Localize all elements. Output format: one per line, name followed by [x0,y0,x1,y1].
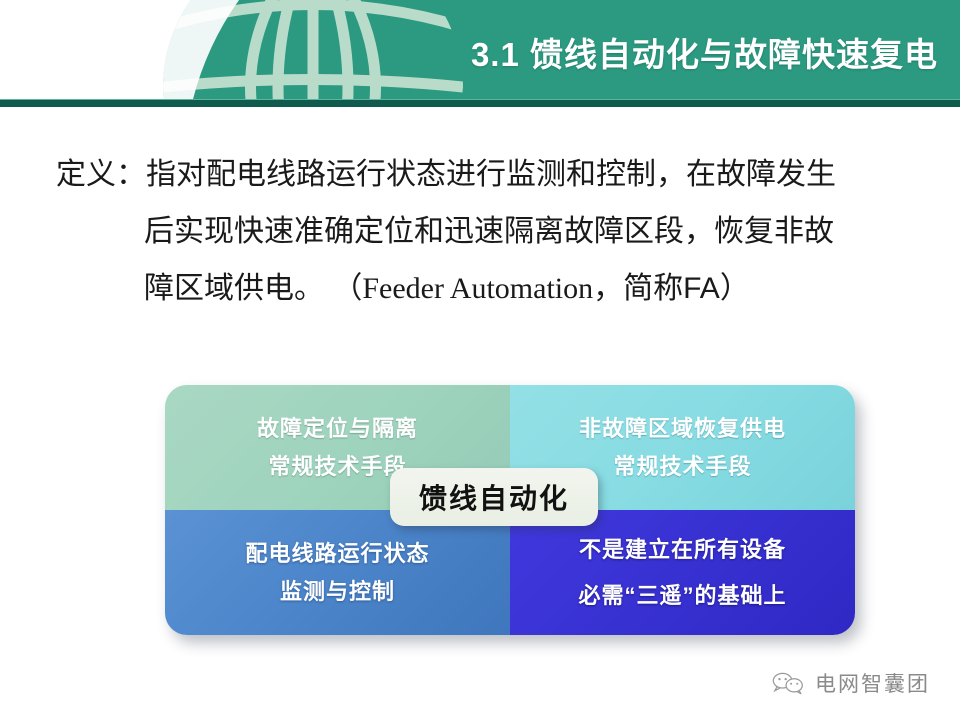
definition-line-3: 障区域供电。 （Feeder Automation，简称FA） [56,260,912,317]
diagram-center-badge: 馈线自动化 [390,468,598,526]
quadrant-top-right-line-1: 非故障区域恢复供电 [579,410,786,448]
definition-line-3-cjk-b: ，简称FA） [593,272,750,305]
quadrant-bottom-left-line-2: 监测与控制 [280,573,395,611]
quadrant-bottom-left-line-1: 配电线路运行状态 [245,535,429,573]
quadrant-top-left-line-2: 常规技术手段 [268,448,406,486]
page-title: 3.1 馈线自动化与故障快速复电 [471,38,938,71]
footer-brand-text: 电网智囊团 [815,668,930,698]
definition-block: 定义：指对配电线路运行状态进行监测和控制，在故障发生 后实现快速准确定位和迅速隔… [56,146,912,317]
quadrant-top-left-line-1: 故障定位与隔离 [257,410,418,448]
quadrant-top-right-line-2: 常规技术手段 [613,448,751,486]
quadrant-bottom-left: 配电线路运行状态 监测与控制 [165,510,510,635]
slide-canvas: 3.1 馈线自动化与故障快速复电 定义：指对配电线路运行状态进行监测和控制，在故… [0,0,960,720]
definition-line-2: 后实现快速准确定位和迅速隔离故障区段，恢复非故 [56,203,912,260]
slide-header: 3.1 馈线自动化与故障快速复电 [0,0,960,100]
diagram-center-label: 馈线自动化 [419,477,569,517]
quadrant-bottom-right-line-2: 必需“三遥”的基础上 [578,573,786,619]
definition-line-3-cjk-a: 障区域供电。 （ [144,272,362,305]
wechat-bubbles-icon [771,670,805,696]
definition-line-1: 定义：指对配电线路运行状态进行监测和控制，在故障发生 [56,146,912,203]
footer-watermark: 电网智囊团 [771,668,930,698]
quadrant-bottom-right: 不是建立在所有设备 必需“三遥”的基础上 [510,510,855,635]
header-divider-rule [0,99,960,107]
quadrant-bottom-right-line-1: 不是建立在所有设备 [579,527,786,573]
definition-line-3-latin: Feeder Automation [362,272,593,305]
globe-grid-icon [148,0,478,100]
